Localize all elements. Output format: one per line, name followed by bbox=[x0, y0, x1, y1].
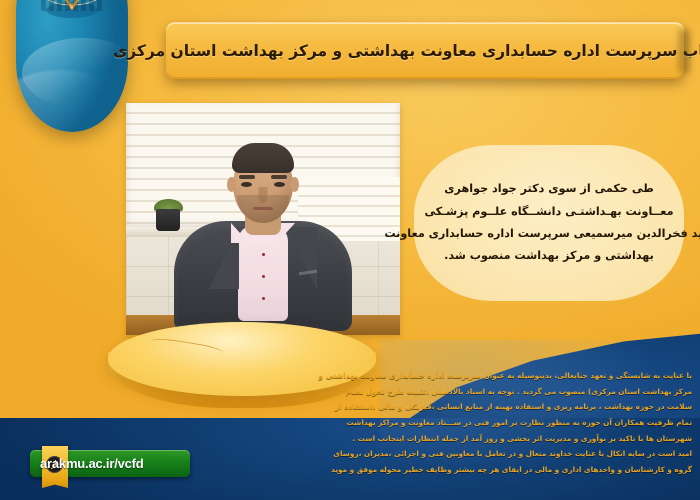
decree-line: با عنایت به شایستگی و تعهد جنابعالی، بدی… bbox=[344, 368, 692, 384]
photo-plant-pot bbox=[156, 209, 180, 231]
photo-ear-right bbox=[290, 177, 299, 192]
photo-eye-right bbox=[274, 182, 285, 187]
photo-mouth bbox=[253, 207, 273, 210]
website-url-text: arakmu.ac.ir/vcfd bbox=[30, 456, 190, 471]
photo-shirt-button bbox=[262, 275, 265, 278]
decree-line: تمام ظرفیت همکاران آن حوزه به منظور نظار… bbox=[344, 415, 692, 431]
decree-line: امید است در سایه اتکال با عنایت خداوند م… bbox=[344, 446, 692, 462]
summary-bubble: طی حکمی از سوی دکتر جواد جواهری معــاونت… bbox=[414, 145, 684, 301]
decree-line: سلامت در حوزه بهداشت ، برنامه ریزی و است… bbox=[344, 399, 692, 415]
teal-logo-panel bbox=[16, 0, 128, 132]
summary-line: سید فخرالدین میرسمیعی سرپرست اداره حسابد… bbox=[384, 223, 700, 245]
website-url-badge[interactable]: arakmu.ac.ir/vcfd bbox=[30, 450, 190, 477]
summary-line: بهداشتی و مرکز بهداشت منصوب شد. bbox=[384, 245, 700, 267]
photo-ear-left bbox=[227, 177, 236, 192]
logo-caption bbox=[41, 0, 103, 11]
decree-line: مرکز بهداشت استان مرکزی) منصوب می گردید … bbox=[344, 384, 692, 400]
photo-eyebrow-left bbox=[239, 175, 255, 179]
decree-line: شهرستان ها با تاکید بر نوآوری و مدیریت ا… bbox=[344, 431, 692, 447]
photo-hair bbox=[232, 143, 294, 173]
poster-canvas: انتصاب سرپرست اداره حسابداری معاونت بهدا… bbox=[0, 0, 700, 500]
photo-eyebrow-right bbox=[271, 175, 287, 179]
table-top-shape bbox=[108, 322, 376, 396]
summary-line: معــاونت بهـداشتـی دانشــگاه علــوم پزشـ… bbox=[384, 201, 700, 223]
page-title-plaque: انتصاب سرپرست اداره حسابداری معاونت بهدا… bbox=[166, 22, 684, 79]
decree-line: گروه و کارشناسان و واحدهای اداری و مالی … bbox=[344, 462, 692, 478]
page-title: انتصاب سرپرست اداره حسابداری معاونت بهدا… bbox=[99, 42, 700, 60]
decree-body-text: با عنایت به شایستگی و تعهد جنابعالی، بدی… bbox=[344, 368, 692, 478]
summary-line: طی حکمی از سوی دکتر جواد جواهری bbox=[384, 178, 700, 200]
photo-eye-left bbox=[241, 182, 252, 187]
photo-shirt-button bbox=[262, 297, 265, 300]
summary-bubble-text: طی حکمی از سوی دکتر جواد جواهری معــاونت… bbox=[372, 178, 700, 268]
photo-nose bbox=[259, 187, 268, 203]
photo-shirt-button bbox=[262, 253, 265, 256]
subject-photo bbox=[126, 103, 400, 335]
